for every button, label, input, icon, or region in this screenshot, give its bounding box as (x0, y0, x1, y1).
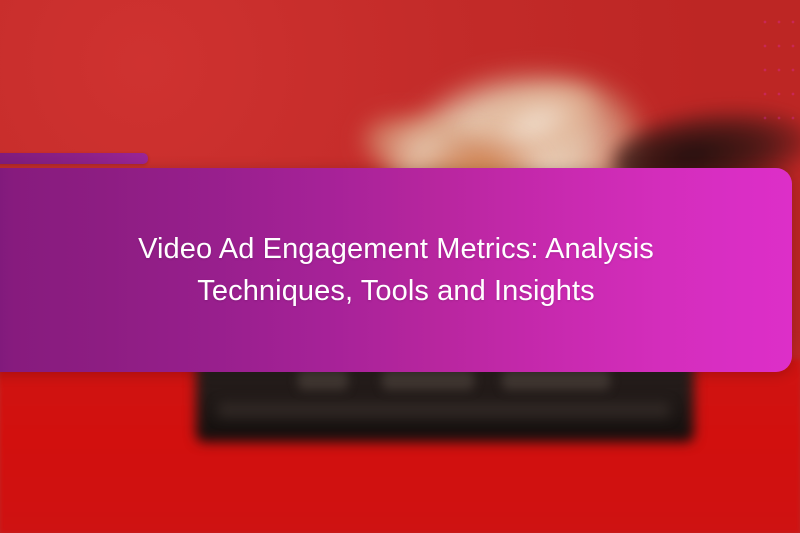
dot-grid-decoration-icon (754, 2, 798, 120)
page-title-line2: Techniques, Tools and Insights (197, 275, 594, 307)
device-panel-strip (218, 402, 670, 418)
page-title: Video Ad Engagement Metrics: Analysis Te… (128, 228, 654, 312)
title-banner: Video Ad Engagement Metrics: Analysis Te… (0, 168, 792, 372)
page-title-line1: Video Ad Engagement Metrics: Analysis (138, 233, 654, 265)
accent-bar-decoration (0, 153, 148, 164)
hero-banner-screenshot: Video Ad Engagement Metrics: Analysis Te… (0, 0, 800, 533)
